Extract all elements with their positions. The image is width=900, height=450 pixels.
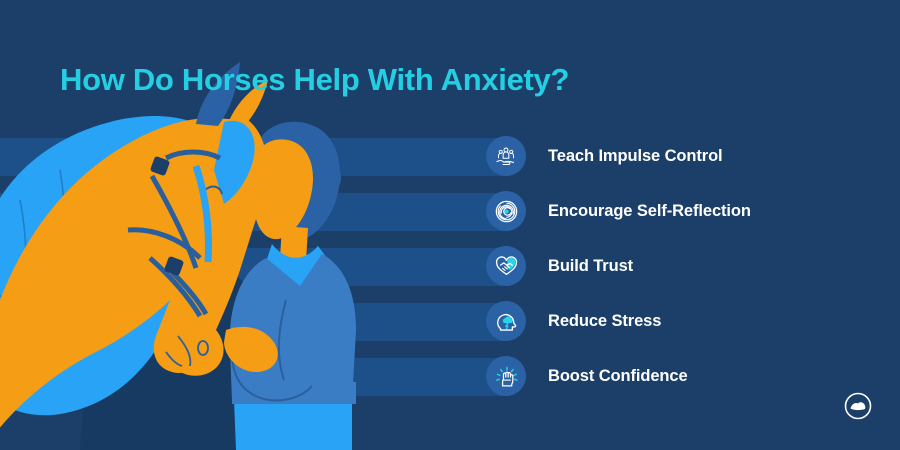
labyrinth-target-icon (486, 191, 526, 231)
list-item[interactable]: Build Trust (486, 247, 633, 285)
list-item-label: Boost Confidence (548, 367, 688, 386)
list-item[interactable]: Encourage Self-Reflection (486, 192, 751, 230)
handshake-heart-icon (486, 246, 526, 286)
list-item[interactable]: Reduce Stress (486, 302, 661, 340)
group-people-on-hand-icon (486, 136, 526, 176)
head-storm-cloud-icon (486, 301, 526, 341)
list-item-label: Encourage Self-Reflection (548, 202, 751, 221)
raised-fist-rays-icon (486, 356, 526, 396)
list-item[interactable]: Boost Confidence (486, 357, 688, 395)
list-item-label: Build Trust (548, 257, 633, 276)
list-item-label: Reduce Stress (548, 312, 661, 331)
brand-logo[interactable] (844, 392, 872, 420)
infographic-canvas: How Do Horses Help With Anxiety? Teach I… (0, 0, 900, 450)
list-item[interactable]: Teach Impulse Control (486, 137, 723, 175)
list-item-label: Teach Impulse Control (548, 147, 723, 166)
benefit-list: Teach Impulse Control Encourage Self-Ref… (0, 0, 900, 450)
